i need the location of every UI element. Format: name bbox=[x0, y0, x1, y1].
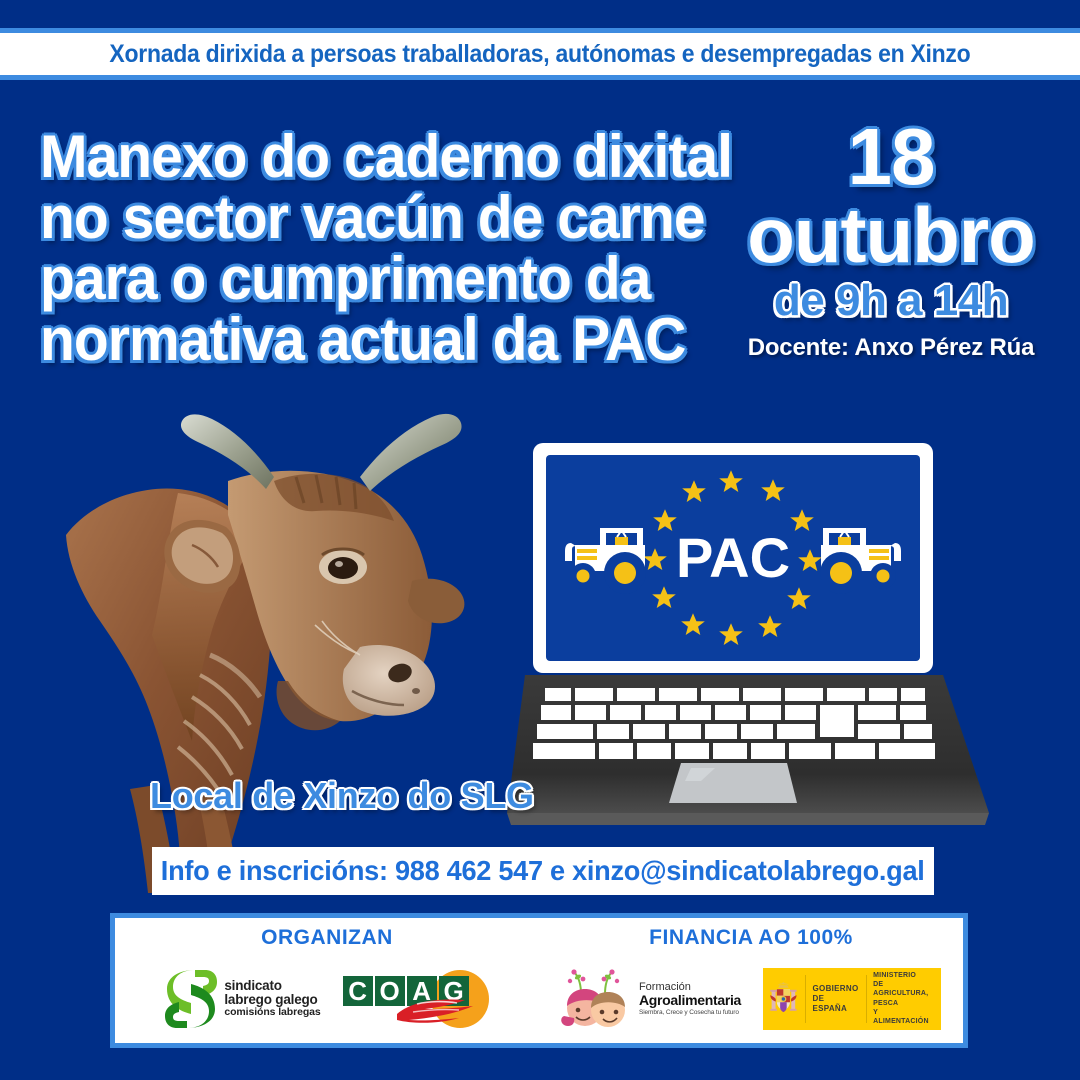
formacion-agroalimentaria-logo: Formación Agroalimentaria Siembra, Crece… bbox=[561, 968, 741, 1030]
slg-line-2: labrego galego bbox=[224, 993, 320, 1007]
gob-divider bbox=[805, 975, 806, 1023]
gob-line-2: DE ESPAÑA bbox=[813, 994, 859, 1014]
gob-line-1: GOBIERNO bbox=[813, 984, 859, 994]
headline-line-2: no sector vacún de carne bbox=[40, 187, 705, 248]
event-teacher: Docente: Anxo Pérez Rúa bbox=[736, 334, 1046, 362]
cow-illustration bbox=[60, 385, 520, 895]
financia-heading: FINANCIA AO 100% bbox=[649, 926, 853, 950]
top-banner: Xornada dirixida a persoas traballadoras… bbox=[0, 28, 1080, 80]
min-line-3: Y ALIMENTACIÓN bbox=[873, 1008, 935, 1026]
min-line-1: MINISTERIO bbox=[873, 971, 935, 980]
financia-logos: Formación Agroalimentaria Siembra, Crece… bbox=[561, 954, 941, 1043]
event-day: 18 bbox=[736, 118, 1046, 196]
slg-mark-icon bbox=[165, 968, 217, 1030]
fa-line-2: Agroalimentaria bbox=[639, 993, 741, 1008]
spain-coat-of-arms-icon bbox=[769, 973, 798, 1025]
footer-financia-column: FINANCIA AO 100% bbox=[539, 918, 963, 1043]
gobierno-de-espana-logo: GOBIERNO DE ESPAÑA MINISTERIO DE AGRICUL… bbox=[763, 968, 941, 1030]
min-line-2: DE AGRICULTURA, PESCA bbox=[873, 980, 935, 1007]
two-faces-sprouts-icon bbox=[561, 968, 633, 1030]
min-divider bbox=[866, 975, 867, 1023]
location-text: Local de Xinzo do SLG bbox=[150, 775, 534, 817]
headline-line-4: normativa actual da PAC bbox=[40, 309, 705, 370]
footer: ORGANIZAN sindicato labrego galego comis… bbox=[110, 913, 968, 1048]
laptop-trackpad bbox=[669, 763, 797, 803]
headline-line-1: Manexo do caderno dixital bbox=[40, 126, 705, 187]
slg-logo: sindicato labrego galego comisións labre… bbox=[165, 968, 320, 1030]
coag-logo: C O A G bbox=[343, 968, 489, 1030]
laptop-svg: PAC bbox=[505, 425, 1005, 840]
slg-line-3: comisións labregas bbox=[224, 1007, 320, 1018]
organizan-heading: ORGANIZAN bbox=[261, 926, 393, 950]
slg-line-1: sindicato bbox=[224, 979, 320, 993]
coag-swoosh-icon bbox=[395, 998, 481, 1024]
organizan-logos: sindicato labrego galego comisións labre… bbox=[165, 954, 488, 1043]
info-bar: Info e inscricións: 988 462 547 e xinzo@… bbox=[152, 847, 934, 895]
laptop-illustration: PAC bbox=[505, 425, 1005, 840]
coag-letter-c: C bbox=[343, 976, 373, 1006]
top-banner-text: Xornada dirixida a persoas traballadoras… bbox=[109, 40, 970, 69]
cow-photo bbox=[60, 385, 520, 895]
info-bar-text: Info e inscricións: 988 462 547 e xinzo@… bbox=[161, 855, 925, 887]
event-hours: de 9h a 14h bbox=[736, 278, 1046, 324]
pac-screen-label: PAC bbox=[676, 526, 790, 589]
event-month: outubro bbox=[736, 196, 1046, 274]
footer-organizan-column: ORGANIZAN sindicato labrego galego comis… bbox=[115, 918, 539, 1043]
headline-line-3: para o cumprimento da bbox=[40, 248, 705, 309]
fa-line-3: Siembra, Crece y Cosecha tu futuro bbox=[639, 1009, 741, 1016]
date-block: 18 outubro de 9h a 14h Docente: Anxo Pér… bbox=[736, 118, 1046, 362]
headline: Manexo do caderno dixital no sector vacú… bbox=[40, 126, 740, 370]
